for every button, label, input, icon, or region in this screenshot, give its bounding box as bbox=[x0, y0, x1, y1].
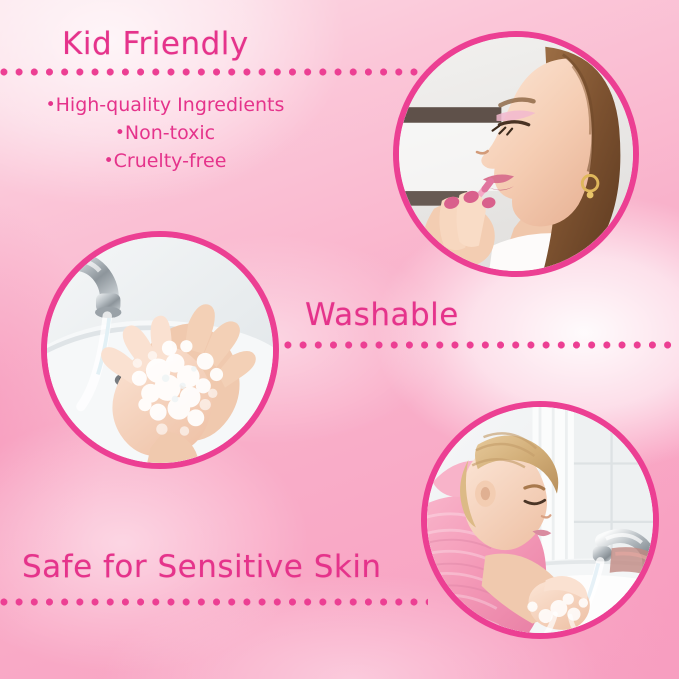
feature-list-item: •Cruelty-free bbox=[0, 148, 330, 176]
feature-label: High-quality Ingredients bbox=[56, 94, 285, 116]
dotted-divider-top bbox=[0, 68, 434, 76]
bullet-icon: • bbox=[115, 123, 125, 143]
feature-label: Non-toxic bbox=[125, 122, 215, 144]
bullet-icon: • bbox=[104, 151, 114, 171]
photo-soapy-hands-under-faucet bbox=[41, 231, 279, 469]
feature-label: Cruelty-free bbox=[114, 150, 227, 172]
heading-safe-for-sensitive-skin: Safe for Sensitive Skin bbox=[22, 549, 382, 585]
heading-kid-friendly: Kid Friendly bbox=[62, 26, 249, 62]
feature-list: •High-quality Ingredients •Non-toxic •Cr… bbox=[0, 92, 330, 176]
dotted-divider-bottom bbox=[0, 598, 428, 606]
photo-toddler-washing-hands bbox=[421, 401, 659, 639]
soapy-hands-illustration bbox=[47, 237, 273, 463]
dotted-divider-middle bbox=[284, 341, 679, 349]
toddler-washing-hands-illustration bbox=[427, 407, 653, 633]
feature-list-item: •Non-toxic bbox=[0, 120, 330, 148]
bullet-icon: • bbox=[46, 95, 56, 115]
product-feature-infographic: Kid Friendly •High-quality Ingredients •… bbox=[0, 0, 679, 679]
heading-washable: Washable bbox=[305, 297, 459, 333]
feature-list-item: •High-quality Ingredients bbox=[0, 92, 330, 120]
girl-applying-lip-gloss-illustration bbox=[399, 37, 633, 271]
photo-girl-applying-lip-gloss bbox=[393, 31, 639, 277]
